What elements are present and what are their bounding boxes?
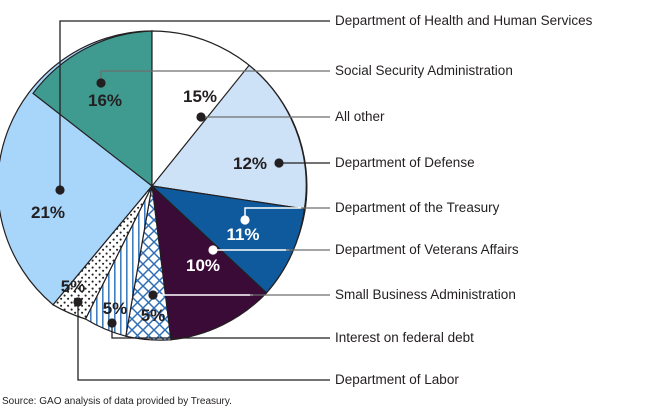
- leader-dot-va: [208, 245, 217, 254]
- slice-percent-va: 10%: [186, 256, 220, 275]
- source-note: Source: GAO analysis of data provided by…: [2, 396, 232, 407]
- callout-label-va: Department of Veterans Affairs: [335, 243, 519, 257]
- leader-dot-treasury: [240, 215, 249, 224]
- slice-percent-dod: 12%: [233, 154, 267, 173]
- callout-label-dol: Department of Labor: [335, 373, 459, 387]
- leader-dot-sba: [148, 290, 157, 299]
- leader-dot-dod: [274, 158, 283, 167]
- slice-percent-ssa: 16%: [88, 91, 122, 110]
- callout-label-all-other: All other: [335, 110, 385, 124]
- callout-label-dod: Department of Defense: [335, 156, 475, 170]
- slice-percent-interest: 5%: [103, 299, 128, 318]
- callout-label-sba: Small Business Administration: [335, 288, 516, 302]
- slice-percent-treasury: 11%: [226, 225, 259, 244]
- leader-dot-all-other: [196, 112, 205, 121]
- slice-percent-all-other: 15%: [183, 87, 217, 106]
- callout-label-interest: Interest on federal debt: [335, 331, 474, 345]
- callout-label-ssa: Social Security Administration: [335, 64, 513, 78]
- leader-dot-hhs: [55, 185, 64, 194]
- slice-percent-sba: 5%: [141, 306, 166, 325]
- slice-percent-hhs: 21%: [31, 203, 65, 222]
- leader-dot-interest: [107, 318, 116, 327]
- slice-percent-dol: 5%: [61, 277, 86, 296]
- callout-label-treasury: Department of the Treasury: [335, 201, 499, 215]
- pie-chart-svg: 21% 16% 15% 12% 11% 10% 5% 5% 5%: [0, 0, 650, 415]
- callout-label-hhs: Department of Health and Human Services: [335, 14, 592, 28]
- pie-chart-figure: 21% 16% 15% 12% 11% 10% 5% 5% 5% Departm…: [0, 0, 650, 415]
- leader-dot-dol: [73, 297, 82, 306]
- leader-dot-ssa: [96, 78, 105, 87]
